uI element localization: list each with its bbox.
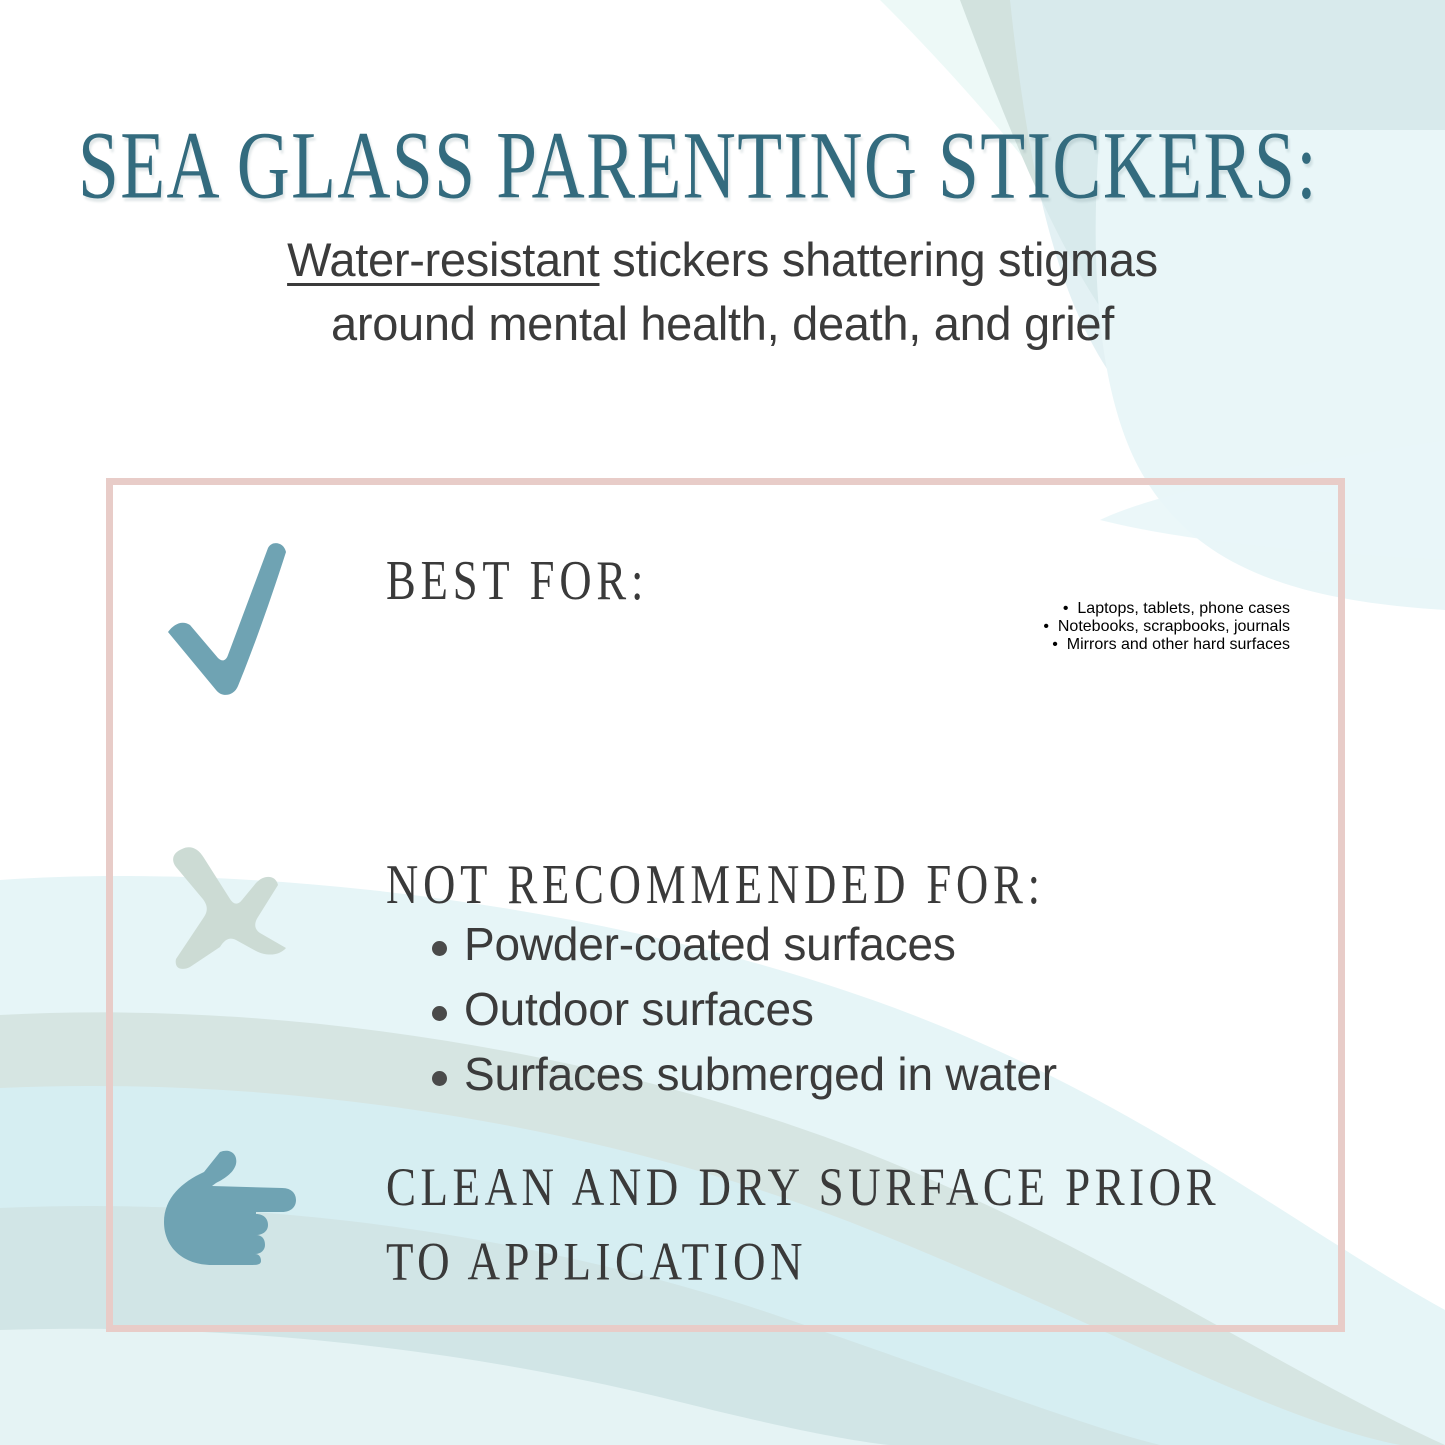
page-subtitle: Water-resistant stickers shattering stig… bbox=[0, 228, 1445, 356]
list-item-label: Laptops, tablets, phone cases bbox=[1077, 600, 1290, 617]
list-item: Outdoor surfaces bbox=[410, 977, 1057, 1042]
pointing-hand-icon bbox=[160, 1150, 300, 1265]
list-item-label: Mirrors and other hard surfaces bbox=[1067, 636, 1290, 653]
subtitle-line1-rest: stickers shattering stigmas bbox=[599, 233, 1157, 286]
list-item: Surfaces submerged in water bbox=[410, 1042, 1057, 1107]
best-for-list-wrap: • Laptops, tablets, phone cases • Notebo… bbox=[0, 600, 1290, 654]
not-recommended-list: Powder-coated surfaces Outdoor surfaces … bbox=[410, 912, 1057, 1107]
subtitle-line2: around mental health, death, and grief bbox=[331, 297, 1114, 350]
list-item-label: Surfaces submerged in water bbox=[464, 1048, 1057, 1100]
heading-not-recommended-for: NOT RECOMMENDED FOR: bbox=[386, 852, 1045, 917]
best-for-list: • Laptops, tablets, phone cases • Notebo… bbox=[0, 600, 1290, 654]
note-line2: TO APPLICATION bbox=[386, 1232, 807, 1292]
list-item: • Notebooks, scrapbooks, journals bbox=[0, 618, 1290, 636]
application-note: CLEAN AND DRY SURFACE PRIOR TO APPLICATI… bbox=[386, 1150, 1306, 1299]
subtitle-underlined-phrase: Water-resistant bbox=[287, 233, 599, 286]
page-title: SEA GLASS PARENTING STICKERS: bbox=[78, 112, 1287, 222]
x-icon bbox=[160, 845, 290, 970]
list-item-label: Outdoor surfaces bbox=[464, 983, 814, 1035]
list-item-label: Notebooks, scrapbooks, journals bbox=[1058, 618, 1290, 635]
list-item: • Laptops, tablets, phone cases bbox=[0, 600, 1290, 618]
list-item-bullet: • bbox=[1043, 618, 1058, 635]
note-line1: CLEAN AND DRY SURFACE PRIOR bbox=[386, 1157, 1220, 1217]
list-item: Powder-coated surfaces bbox=[410, 912, 1057, 977]
poster-canvas: SEA GLASS PARENTING STICKERS: Water-resi… bbox=[0, 0, 1445, 1445]
list-item-bullet: • bbox=[1052, 636, 1067, 653]
list-item: • Mirrors and other hard surfaces bbox=[0, 636, 1290, 654]
list-item-label: Powder-coated surfaces bbox=[464, 918, 956, 970]
list-item-bullet: • bbox=[1063, 600, 1078, 617]
